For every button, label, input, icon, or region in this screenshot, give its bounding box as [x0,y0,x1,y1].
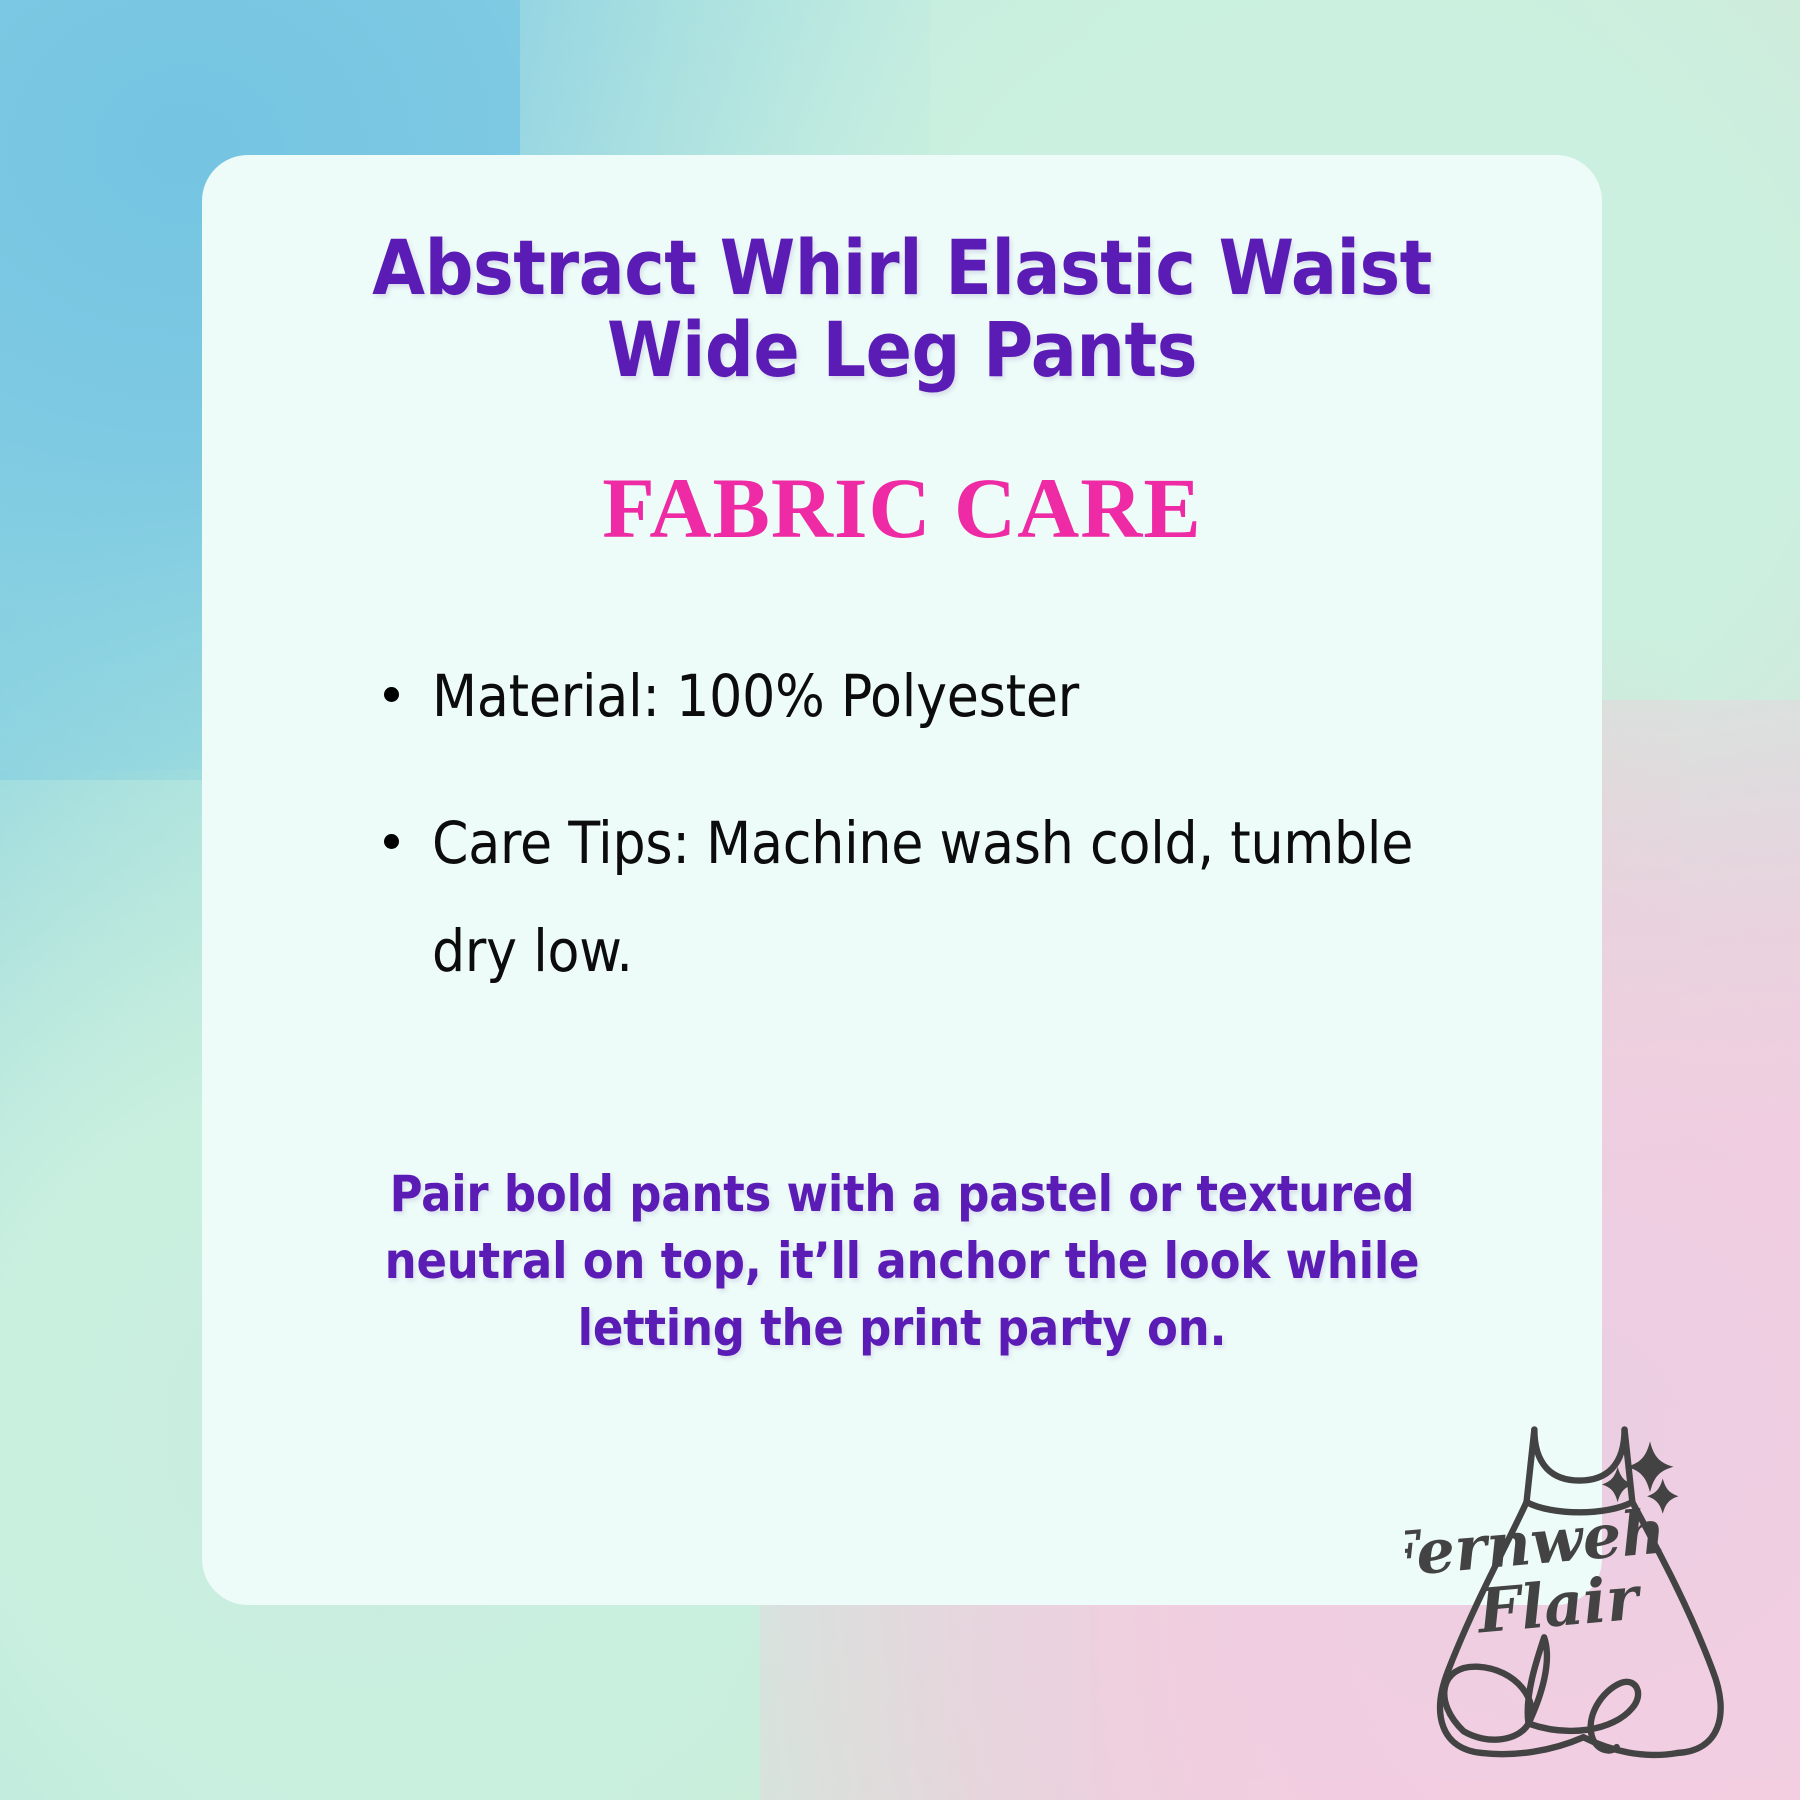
poster-canvas: Abstract Whirl Elastic Waist Wide Leg Pa… [0,0,1800,1800]
page-title: Abstract Whirl Elastic Waist Wide Leg Pa… [280,227,1524,391]
list-item: Care Tips: Machine wash cold, tumble dry… [280,790,1524,1005]
bullet-icon [384,834,399,849]
list-item: Material: 100% Polyester [280,643,1524,750]
section-heading-fabric-care: FABRIC CARE [280,391,1524,551]
spec-text: Material: 100% Polyester [432,662,1079,730]
styling-tip-text: Pair bold pants with a pastel or texture… [280,1045,1524,1362]
info-card: Abstract Whirl Elastic Waist Wide Leg Pa… [202,155,1602,1605]
logo-text-line-two: Flair [1473,1562,1645,1647]
brand-logo: Fernweh Flair [1405,1408,1797,1800]
dress-outline-icon: Fernweh Flair [1405,1408,1797,1800]
spec-list: Material: 100% Polyester Care Tips: Mach… [280,551,1524,1005]
spec-text: Care Tips: Machine wash cold, tumble dry… [432,809,1413,984]
bullet-icon [384,687,399,702]
